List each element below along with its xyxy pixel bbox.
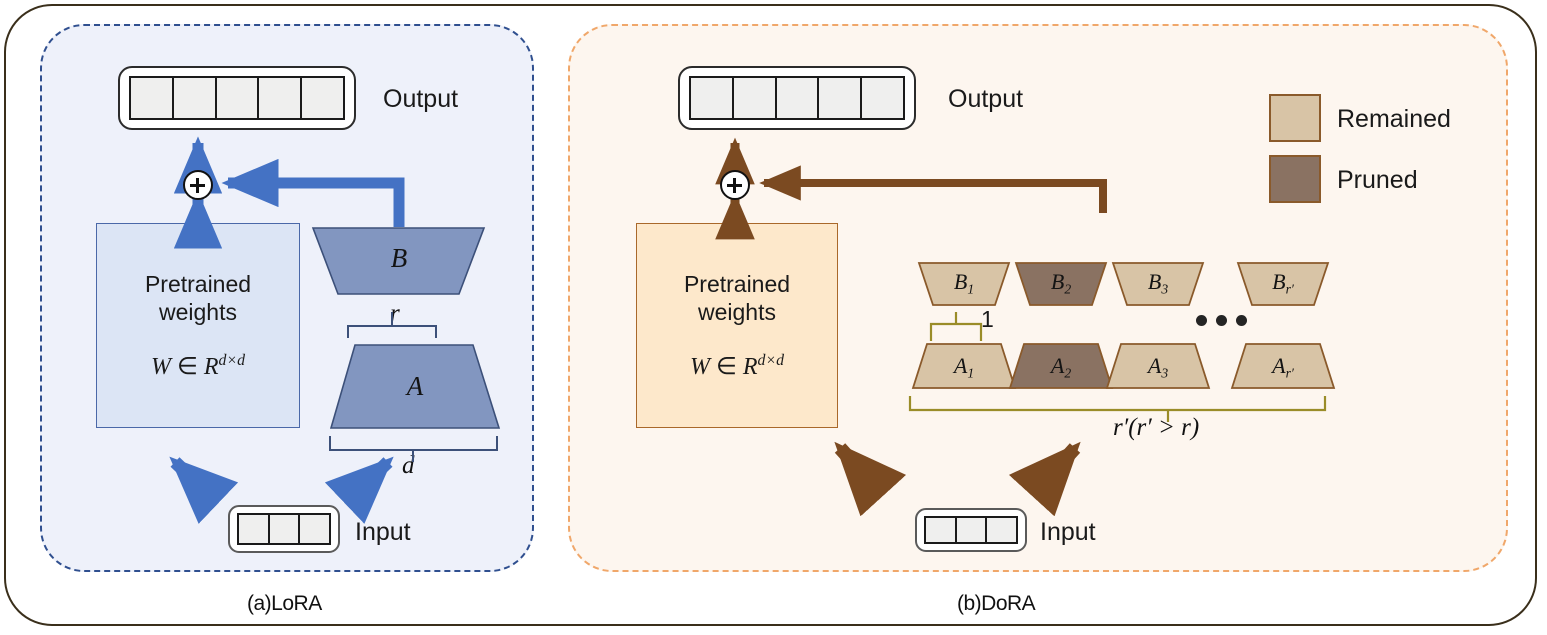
formula-exponent: d×d (219, 352, 246, 369)
vector-cell (259, 78, 302, 118)
dora-input-vector (915, 508, 1027, 552)
ellipsis-dot (1236, 315, 1247, 326)
lora-matrix-a: A (330, 344, 500, 429)
vector-cell (926, 518, 957, 542)
dora-unit-a3: A3 (1106, 343, 1210, 389)
vector-cell (691, 78, 734, 118)
vector-cell (174, 78, 217, 118)
dora-weight-formula: W ∈ Rd×d (690, 352, 784, 381)
dora-output-cells (689, 76, 905, 120)
vector-cell (300, 515, 329, 543)
dora-output-label: Output (948, 85, 1023, 114)
formula-in: ∈ (716, 354, 737, 380)
dora-output-vector (678, 66, 916, 130)
ellipsis-dot (1196, 315, 1207, 326)
lora-output-label: Output (383, 85, 458, 114)
figure-canvas: Output Pretrained weights W ∈ Rd×d B r A… (0, 0, 1547, 635)
lora-pretrained-weights-title: Pretrained weights (145, 270, 251, 326)
dora-plus-node (720, 170, 750, 200)
vector-cell (987, 518, 1016, 542)
lora-weight-formula: W ∈ Rd×d (151, 352, 245, 381)
vector-cell (862, 78, 903, 118)
vector-cell (131, 78, 174, 118)
caption-lora: (a)LoRA (247, 592, 322, 616)
pw-line1: Pretrained (684, 271, 790, 297)
dora-input-cells (924, 516, 1018, 544)
dora-unit-brprime: Br′ (1237, 262, 1329, 306)
lora-pretrained-weights-box: Pretrained weights W ∈ Rd×d (96, 223, 300, 428)
vector-cell (734, 78, 777, 118)
vector-cell (239, 515, 270, 543)
formula-w: W (151, 354, 171, 380)
dora-unit-a2: A2 (1009, 343, 1113, 389)
formula-w: W (690, 354, 710, 380)
lora-matrix-b: B (313, 227, 485, 295)
dora-unit-a1: A1 (912, 343, 1016, 389)
vector-cell (957, 518, 988, 542)
vector-cell (270, 515, 301, 543)
pw-line1: Pretrained (145, 271, 251, 297)
ellipsis-dot (1216, 315, 1227, 326)
lora-input-label: Input (355, 518, 411, 547)
dora-unit-arprime: Ar′ (1231, 343, 1335, 389)
vector-cell (819, 78, 862, 118)
legend-swatch-pruned (1269, 155, 1321, 203)
pw-line2: weights (159, 299, 237, 325)
dora-unit-b3: B3 (1112, 262, 1204, 306)
dora-input-label: Input (1040, 518, 1096, 547)
plus-vertical-bar (733, 178, 735, 193)
formula-in: ∈ (177, 354, 198, 380)
formula-r: R (204, 354, 219, 380)
dora-unit-b2: B2 (1015, 262, 1107, 306)
dora-unit-b1: B1 (918, 262, 1010, 306)
formula-exponent: d×d (758, 352, 785, 369)
legend-label-remained: Remained (1337, 105, 1451, 134)
legend-swatch-remained (1269, 94, 1321, 142)
dora-pretrained-weights-title: Pretrained weights (684, 270, 790, 326)
vector-cell (217, 78, 260, 118)
legend-label-pruned: Pruned (1337, 166, 1418, 195)
caption-dora: (b)DoRA (957, 592, 1035, 616)
lora-output-cells (129, 76, 345, 120)
lora-input-cells (237, 513, 331, 545)
dora-bracket-one-label: 1 (981, 306, 994, 333)
lora-bracket-d-label: d (402, 452, 415, 480)
vector-cell (302, 78, 343, 118)
lora-input-vector (228, 505, 340, 553)
vector-cell (777, 78, 820, 118)
pw-line2: weights (698, 299, 776, 325)
lora-plus-node (183, 170, 213, 200)
formula-r: R (743, 354, 758, 380)
lora-output-vector (118, 66, 356, 130)
plus-vertical-bar (196, 178, 198, 193)
dora-bracket-rprime-label: r′(r′ > r) (1113, 414, 1199, 442)
lora-bracket-r-label: r (390, 300, 400, 328)
dora-pretrained-weights-box: Pretrained weights W ∈ Rd×d (636, 223, 838, 428)
